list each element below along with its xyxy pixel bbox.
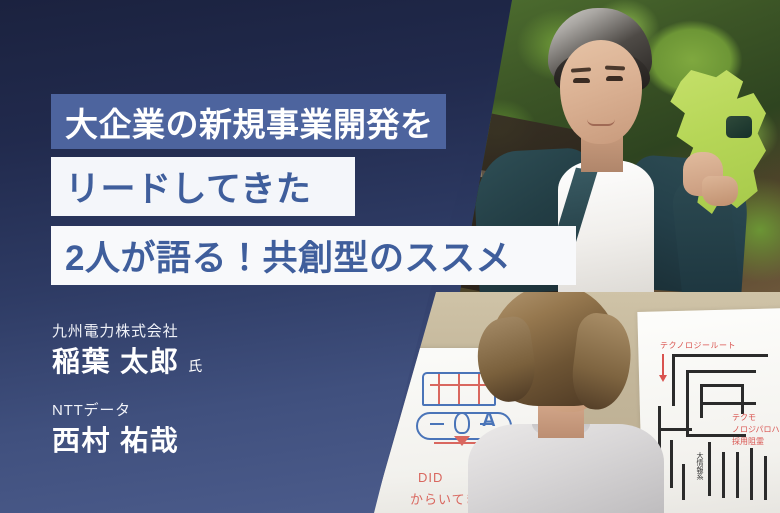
sketch-red-note: DID — [418, 470, 443, 485]
title-line-2: リードしてきた — [51, 157, 355, 216]
maze-line — [672, 354, 768, 357]
title-line-1: 大企業の新規事業開発を — [51, 94, 446, 149]
maze-line — [764, 456, 767, 500]
seminar-banner: A DID からいてきた テクノロジールート 大情報系 テクモノロジパロハ採用阻… — [0, 0, 780, 513]
speaker-list: 九州電力株式会社 稲葉 太郎 氏 NTTデータ 西村 祐哉 — [52, 322, 203, 476]
sketch-tick-2 — [458, 374, 460, 404]
sketch-horizontal-line — [430, 384, 488, 386]
speaker-name-2: 西村 祐哉 — [52, 424, 203, 458]
sketch-tick-1 — [438, 374, 440, 404]
sketch-triangle — [454, 436, 470, 446]
maze-line — [700, 402, 756, 405]
maze-line — [708, 442, 711, 496]
speaker-honorific-1: 氏 — [188, 349, 203, 383]
speaker-name-1-text: 稲葉 太郎 — [52, 345, 179, 379]
maze-line — [682, 464, 685, 500]
photo-top-eye-left — [573, 78, 590, 83]
whiteboard-route-arrow-icon — [662, 354, 664, 376]
sketch-head-shape — [454, 412, 470, 434]
sketch-tick-3 — [478, 374, 480, 404]
maze-line — [686, 370, 689, 434]
maze-line — [722, 452, 725, 498]
speaker-item-1: 九州電力株式会社 稲葉 太郎 氏 — [52, 322, 203, 383]
photo-top-face — [560, 40, 642, 144]
maze-line — [750, 448, 753, 500]
speaker-name-2-text: 西村 祐哉 — [52, 424, 179, 458]
maze-vertical-label: 大情報系 — [694, 452, 704, 480]
photo-top-fingers — [702, 176, 738, 206]
speaker-name-1: 稲葉 太郎 氏 — [52, 345, 203, 383]
maze-line — [686, 370, 756, 373]
photo-top-eye-right — [606, 76, 623, 81]
kyushu-map-inset-shape — [726, 116, 752, 138]
maze-line — [700, 384, 744, 387]
whiteboard-route-label: テクノロジールート — [660, 340, 736, 351]
maze-line — [670, 440, 673, 488]
maze-line — [741, 384, 744, 414]
whiteboard-side-label: テクモノロジパロハ採用阻霊 — [732, 412, 780, 448]
speaker-company-2: NTTデータ — [52, 401, 203, 421]
title-line-3: 2人が語る！共創型のススメ — [51, 226, 576, 285]
maze-line — [672, 354, 675, 406]
sketch-dash-left — [430, 423, 444, 425]
maze-line — [700, 384, 703, 418]
speaker-item-2: NTTデータ 西村 祐哉 — [52, 401, 203, 458]
photo-bottom-curly-hair — [488, 292, 620, 406]
speaker-company-1: 九州電力株式会社 — [52, 322, 203, 342]
maze-line — [658, 428, 692, 431]
maze-line — [736, 452, 739, 498]
photo-top-mouth — [587, 119, 615, 126]
